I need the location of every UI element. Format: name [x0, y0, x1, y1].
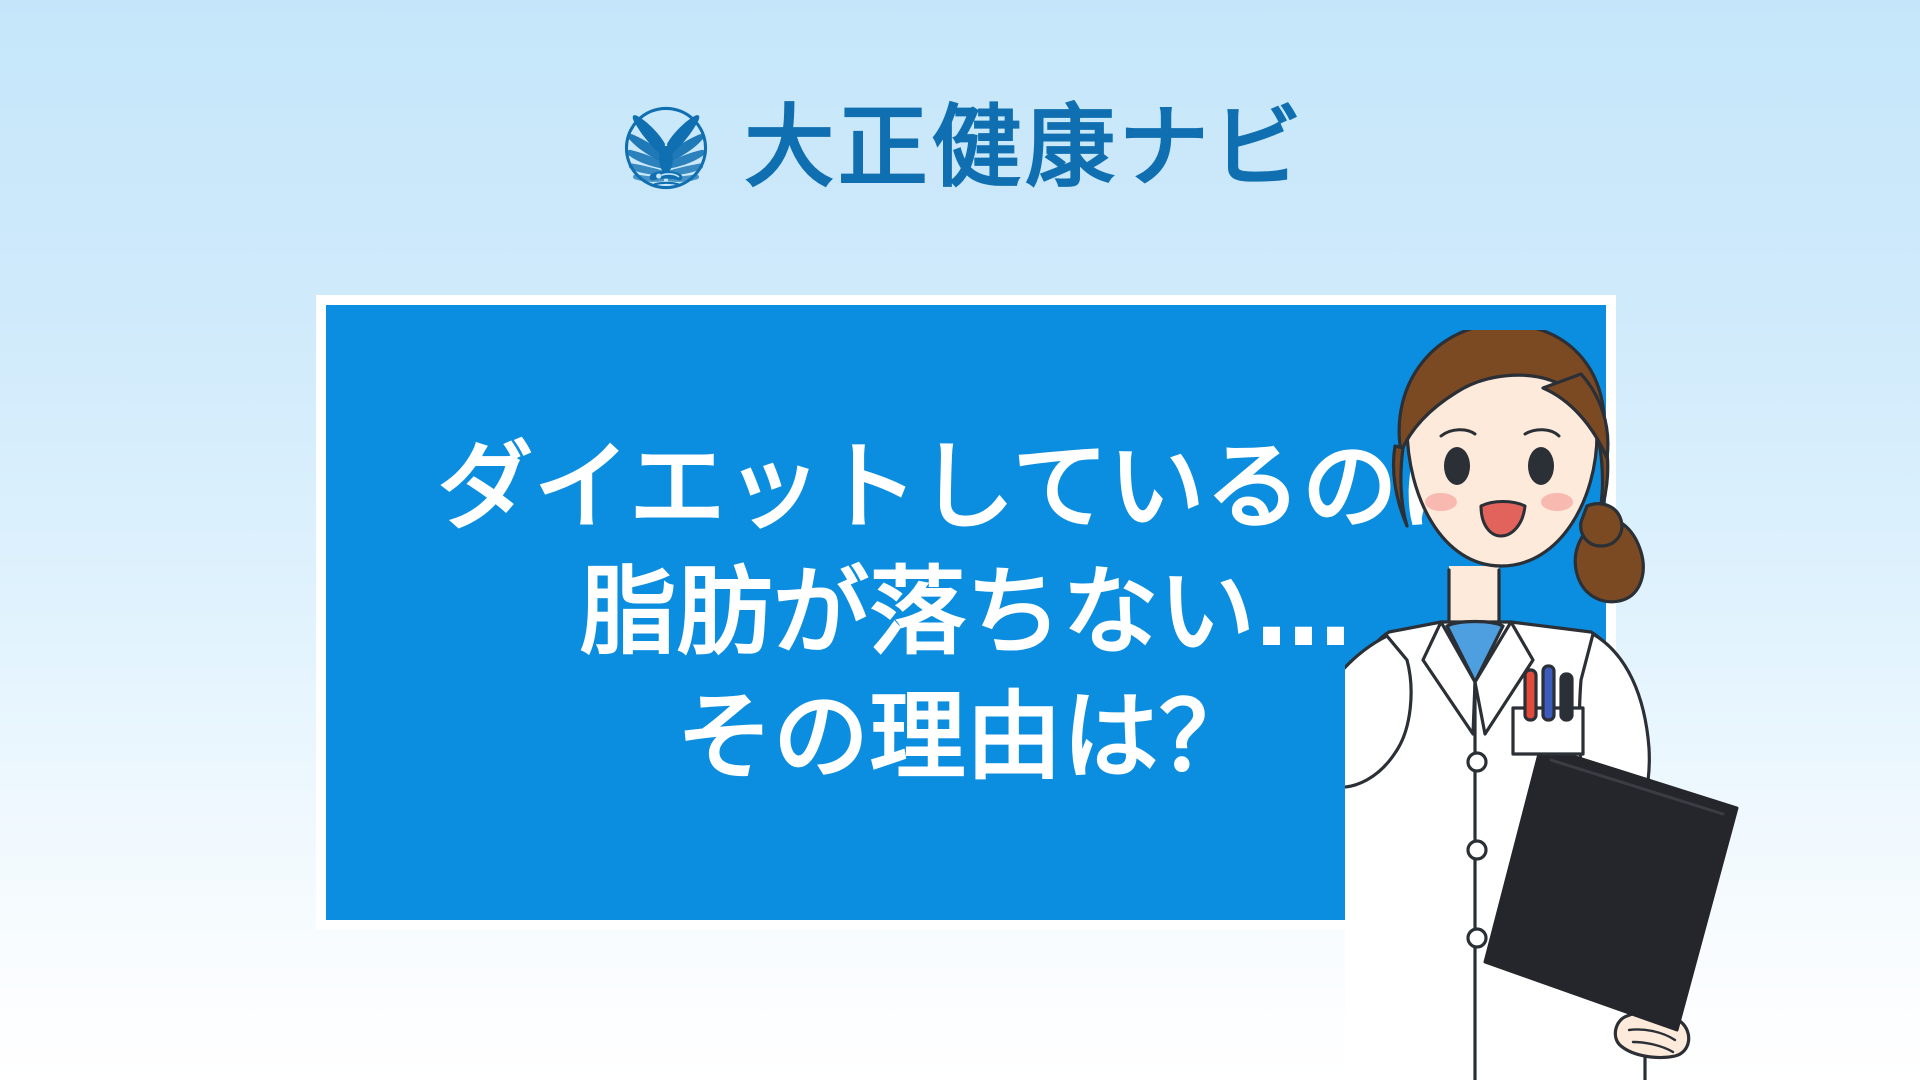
taisho-eagle-emblem-icon	[614, 96, 718, 200]
site-logo-text: 大正健康ナビ	[744, 103, 1306, 193]
title-card-frame: ダイエットしているのに 脂肪が落ちない… その理由は？	[316, 295, 1616, 930]
title-line-3: その理由は？	[677, 675, 1256, 800]
title-card: ダイエットしているのに 脂肪が落ちない… その理由は？	[326, 305, 1606, 920]
site-logo[interactable]: 大正健康ナビ	[0, 96, 1920, 200]
hero-banner: 大正健康ナビ ダイエットしているのに 脂肪が落ちない… その理由は？	[0, 0, 1920, 1080]
title-line-1: ダイエットしているのに	[437, 425, 1494, 550]
title-line-2: 脂肪が落ちない…	[580, 550, 1352, 675]
